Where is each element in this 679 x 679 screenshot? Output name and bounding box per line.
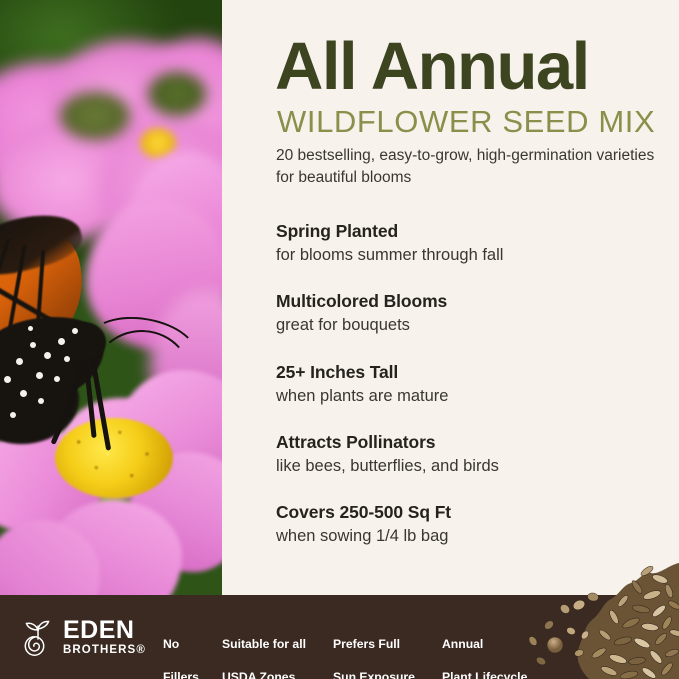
feature-item: Attracts Pollinators like bees, butterfl… bbox=[276, 432, 676, 477]
torn-edge-icon bbox=[0, 595, 679, 603]
footer-item-line1: No bbox=[163, 637, 179, 651]
footer-item-line1: Annual bbox=[442, 637, 483, 651]
product-description: 20 bestselling, easy-to-grow, high-germi… bbox=[276, 145, 676, 190]
feature-subtitle: when sowing 1/4 lb bag bbox=[276, 526, 676, 547]
butterfly-spot bbox=[30, 342, 36, 348]
butterfly-spot bbox=[10, 412, 16, 418]
footer-item-line1: Prefers Full bbox=[333, 637, 400, 651]
butterfly-spot bbox=[54, 376, 60, 382]
butterfly-spot bbox=[28, 326, 33, 331]
brand-logo[interactable]: EDEN BROTHERS® bbox=[20, 617, 146, 657]
feature-subtitle: like bees, butterflies, and birds bbox=[276, 456, 676, 477]
footer-item-line2: Plant Lifecycle bbox=[442, 670, 527, 679]
brand-name: EDEN BROTHERS® bbox=[63, 618, 146, 657]
butterfly-spot bbox=[36, 372, 43, 379]
footer-item-usda-zones: Suitable for all USDA Zones bbox=[222, 620, 306, 679]
feature-item: 25+ Inches Tall when plants are mature bbox=[276, 362, 676, 407]
feature-item: Covers 250-500 Sq Ft when sowing 1/4 lb … bbox=[276, 502, 676, 547]
feature-subtitle: when plants are mature bbox=[276, 386, 676, 407]
product-subtitle: WILDFLOWER SEED MIX bbox=[277, 106, 655, 137]
feature-item: Multicolored Blooms great for bouquets bbox=[276, 291, 676, 336]
footer-item-line2: USDA Zones bbox=[222, 670, 295, 679]
feature-title: Covers 250-500 Sq Ft bbox=[276, 502, 676, 524]
foliage-patch bbox=[148, 72, 206, 116]
butterfly-spot bbox=[72, 328, 78, 334]
foliage-patch bbox=[60, 92, 130, 140]
butterfly-spot bbox=[4, 376, 11, 383]
page-title: All Annual bbox=[275, 33, 589, 100]
brand-name-secondary: BROTHERS® bbox=[63, 645, 146, 657]
product-copy: All Annual WILDFLOWER SEED MIX 20 bestse… bbox=[222, 0, 679, 610]
feature-title: 25+ Inches Tall bbox=[276, 362, 676, 384]
footer-item-no-fillers: No Fillers bbox=[163, 620, 199, 679]
butterfly-spot bbox=[64, 356, 70, 362]
footer-item-line2: Sun Exposure bbox=[333, 670, 415, 679]
brand-name-primary: EDEN bbox=[63, 618, 146, 643]
feature-title: Spring Planted bbox=[276, 221, 676, 243]
brand-footer: EDEN BROTHERS® No Fillers Suitable for a… bbox=[0, 595, 679, 679]
butterfly-spot bbox=[20, 390, 27, 397]
feature-title: Attracts Pollinators bbox=[276, 432, 676, 454]
footer-item-line2: Fillers bbox=[163, 670, 199, 679]
butterfly-spot bbox=[16, 358, 23, 365]
feature-item: Spring Planted for blooms summer through… bbox=[276, 221, 676, 266]
feature-title: Multicolored Blooms bbox=[276, 291, 676, 313]
butterfly-spot bbox=[38, 398, 44, 404]
sprout-seedling-icon bbox=[20, 617, 56, 657]
footer-item-plant-lifecycle: Annual Plant Lifecycle bbox=[442, 620, 527, 679]
footer-item-line1: Suitable for all bbox=[222, 637, 306, 651]
feature-list: Spring Planted for blooms summer through… bbox=[276, 221, 676, 548]
product-infographic: All Annual WILDFLOWER SEED MIX 20 bestse… bbox=[0, 0, 679, 679]
butterfly-spot bbox=[44, 352, 51, 359]
feature-subtitle: for blooms summer through fall bbox=[276, 245, 676, 266]
butterfly-spot bbox=[58, 338, 65, 345]
feature-subtitle: great for bouquets bbox=[276, 315, 676, 336]
butterfly-flower-photo bbox=[0, 0, 222, 610]
background-flower-center bbox=[140, 128, 176, 158]
flower-center-texture bbox=[55, 418, 173, 498]
footer-item-sun-exposure: Prefers Full Sun Exposure bbox=[333, 620, 415, 679]
